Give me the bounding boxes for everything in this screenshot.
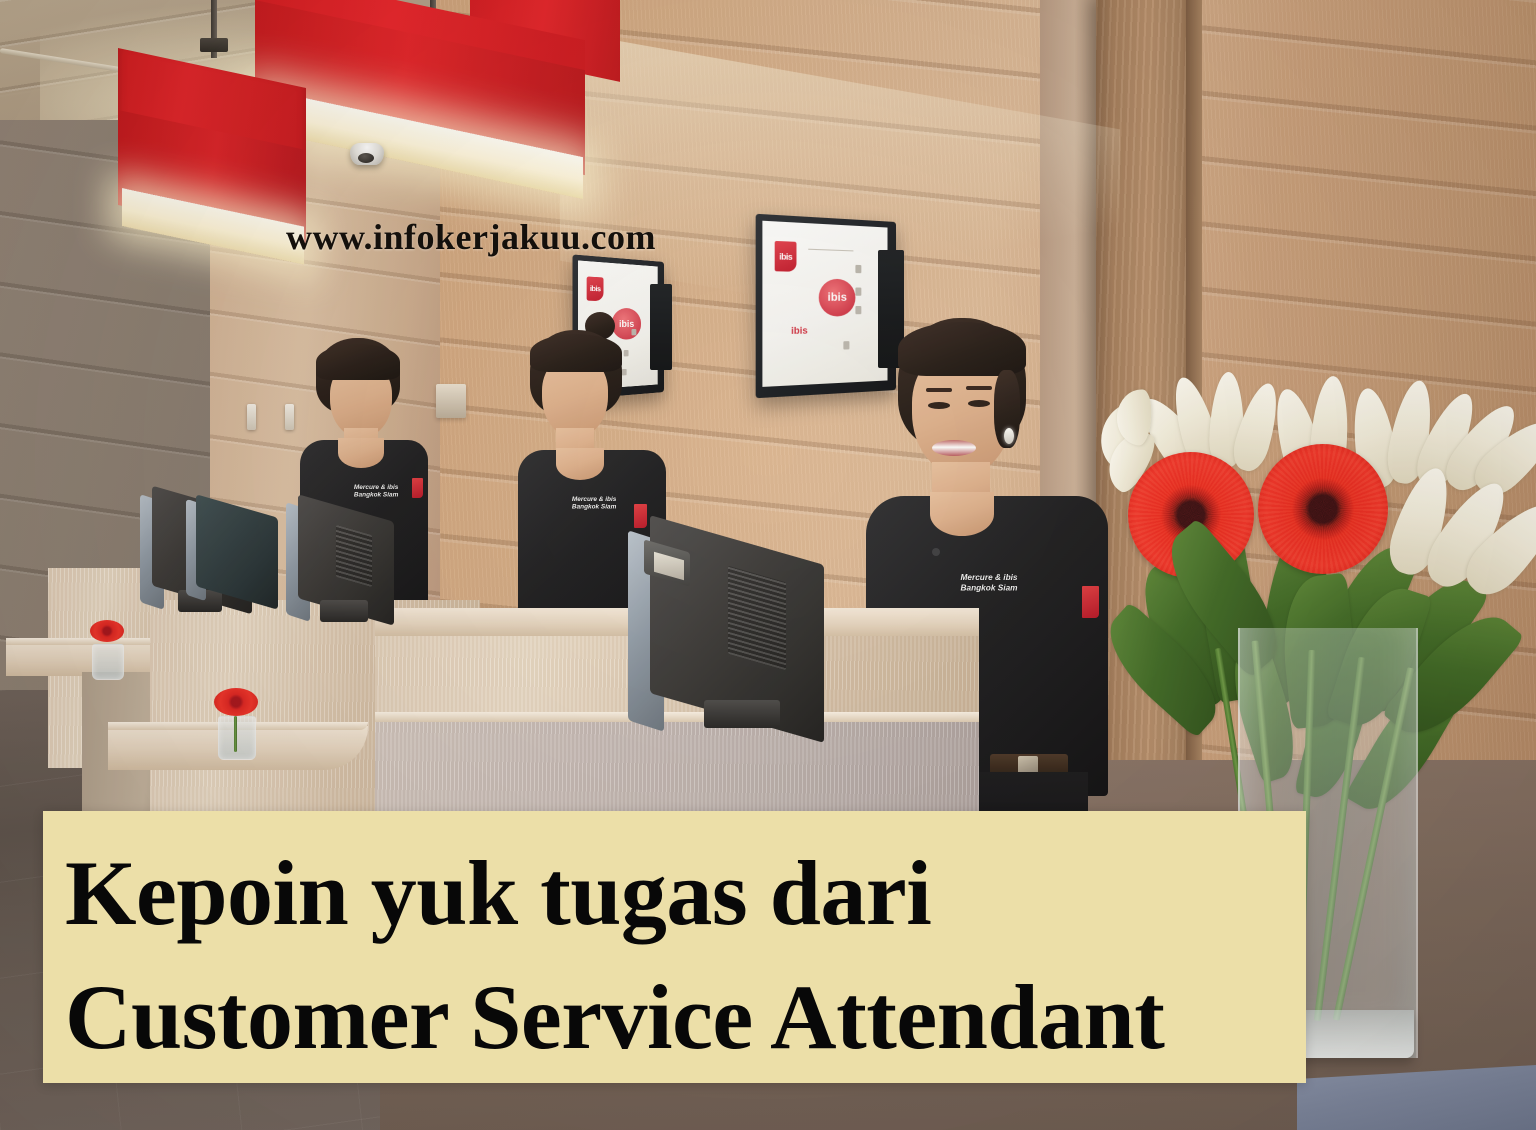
tv-ui-dot: [855, 306, 861, 314]
desk-3-front-edge: [375, 712, 979, 722]
tv-ui-line: [808, 249, 853, 252]
staff-middle-collar-opening: [556, 448, 604, 480]
staff-front-ibis-patch-icon: [1082, 586, 1099, 618]
tv-ui-dot: [624, 350, 629, 356]
caption-banner: Kepoin yuk tugas dari Customer Service A…: [43, 811, 1306, 1083]
tv-ui-dot: [855, 287, 861, 295]
caption-line-1: Kepoin yuk tugas dari: [65, 847, 931, 939]
staff-front-eye-right: [968, 400, 990, 407]
tv-ui-dot: [843, 341, 849, 349]
wall-plate: [436, 384, 466, 418]
tv-ui-dot: [855, 265, 861, 273]
ibis-logo-badge-icon: ibis: [587, 276, 604, 301]
staff-front-embroidery: Mercure & ibisBangkok Siam: [960, 573, 1017, 593]
staff-front-smile: [932, 440, 976, 456]
tv-left-mount: [650, 284, 672, 370]
staff-front-collar-opening: [930, 492, 994, 536]
staff-middle-fringe: [530, 334, 622, 372]
staff-left-embroidery: Mercure & ibisBangkok Siam: [354, 485, 398, 500]
ibis-logo-badge-icon: ibis: [775, 241, 797, 272]
wall-light-fixture-icon: [247, 404, 256, 430]
staff-left-ibis-patch-icon: [412, 478, 423, 498]
staff-middle-embroidery: Mercure & ibisBangkok Siam: [572, 497, 616, 512]
staff-middle-ibis-patch-icon: [634, 504, 647, 528]
watermark-text: www.infokerjakuu.com: [286, 216, 656, 258]
wall-light-fixture-icon: [285, 404, 294, 430]
staff-front-eye-left: [928, 402, 950, 409]
staff-front-brow-right: [966, 386, 992, 390]
screenshot-root: ibis ibis ibis ibis ibis Mercure & ibisB…: [0, 0, 1536, 1130]
staff-left-collar-opening: [338, 438, 384, 468]
staff-front-fringe: [898, 322, 1026, 376]
ibis-logo-circle-icon: ibis: [819, 279, 856, 317]
security-camera-lens-icon: [358, 153, 374, 163]
staff-front-earring-icon: [1004, 428, 1014, 444]
tv-ui-dot: [632, 329, 637, 335]
staff-front-brow-left: [926, 388, 952, 392]
ibis-logo-small-text: ibis: [791, 325, 808, 336]
tv-right-display: ibis ibis ibis: [762, 221, 887, 387]
ibis-logo-circle-icon: ibis: [612, 308, 641, 340]
tv-screen-right: ibis ibis ibis: [756, 214, 896, 399]
pendant-ceiling-mount: [200, 38, 228, 52]
staff-left-fringe: [316, 344, 400, 380]
caption-line-2: Customer Service Attendant: [65, 971, 1164, 1063]
staff-front-polo-button: [932, 548, 940, 556]
tv-ui-dot: [622, 369, 627, 376]
